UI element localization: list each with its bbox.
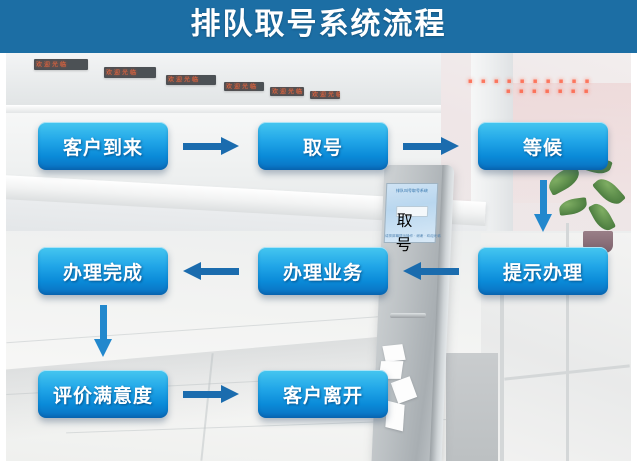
flow-box-handle-business[interactable]: 办理业务: [258, 247, 388, 295]
flow-box-prompt-service[interactable]: 提示办理: [478, 247, 608, 295]
arrow-head-icon: [221, 385, 239, 403]
arrow-head-icon: [94, 339, 112, 357]
arrow-head-icon: [183, 262, 201, 280]
arrow-head-icon: [221, 137, 239, 155]
kiosk-screen-title: 排队叫号取号系统: [387, 188, 437, 194]
flow-box-take-number[interactable]: 取号: [258, 122, 388, 170]
flow-box-wait[interactable]: 等候: [478, 122, 608, 170]
kiosk-screen-footer: 请按屏幕提示操作 · 谢谢 · 欢迎光临: [385, 234, 435, 239]
printed-ticket: [382, 344, 405, 362]
arrow-shaft: [419, 268, 459, 275]
kiosk-ticket-slot: [390, 313, 426, 318]
arrow-ticket-to-wait: [403, 137, 459, 155]
counter-led-sign: 欢迎光临: [310, 91, 340, 99]
door-dark-panel: [446, 353, 498, 461]
arrow-head-icon: [534, 214, 552, 232]
arrow-arrive-to-ticket: [183, 137, 239, 155]
arrow-prompt-to-service: [403, 262, 459, 280]
flowchart-page: 排队取号系统流程 欢迎光临 欢迎光临 欢迎光临 欢迎光临 欢迎光临 欢迎光临 ▪…: [0, 0, 637, 467]
counter-led-sign: 欢迎光临: [34, 59, 88, 70]
counter-led-sign: 欢迎光临: [104, 67, 156, 78]
arrow-shaft: [100, 305, 107, 341]
flow-box-customer-leaves[interactable]: 客户离开: [258, 370, 388, 418]
flow-box-rate-satisfaction[interactable]: 评价满意度: [38, 370, 168, 418]
arrow-rate-to-leave: [183, 385, 239, 403]
arrow-shaft: [183, 391, 223, 398]
counter-led-row: ▪ ▪ ▪ ▪ ▪ ▪ ▪: [506, 87, 592, 95]
kiosk-screen-button: 取号: [396, 206, 428, 217]
arrow-wait-to-prompt: [534, 180, 552, 232]
counter-led-row: ▪ ▪ ▪ ▪ ▪ ▪ ▪ ▪ ▪ ▪: [468, 77, 592, 85]
arrow-shaft: [183, 143, 223, 150]
printed-ticket: [385, 401, 404, 432]
counter-led-sign: 欢迎光临: [270, 87, 304, 96]
arrow-done-to-rate: [94, 305, 112, 357]
page-title: 排队取号系统流程: [0, 0, 637, 53]
counter-led-sign: 欢迎光临: [224, 82, 264, 91]
arrow-head-icon: [441, 137, 459, 155]
kiosk-screen: 排队叫号取号系统 取号 请按屏幕提示操作 · 谢谢 · 欢迎光临: [384, 183, 439, 243]
arrow-shaft: [199, 268, 239, 275]
arrow-head-icon: [403, 262, 421, 280]
flow-box-customer-arrives[interactable]: 客户到来: [38, 122, 168, 170]
arrow-shaft: [540, 180, 547, 216]
counter-led-sign: 欢迎光临: [166, 75, 216, 85]
queue-ticket-kiosk: 排队叫号取号系统 取号 请按屏幕提示操作 · 谢谢 · 欢迎光临: [378, 165, 450, 461]
flow-box-service-complete[interactable]: 办理完成: [38, 247, 168, 295]
arrow-shaft: [403, 143, 443, 150]
arrow-service-to-done: [183, 262, 239, 280]
header-banner: 排队取号系统流程: [0, 0, 637, 53]
